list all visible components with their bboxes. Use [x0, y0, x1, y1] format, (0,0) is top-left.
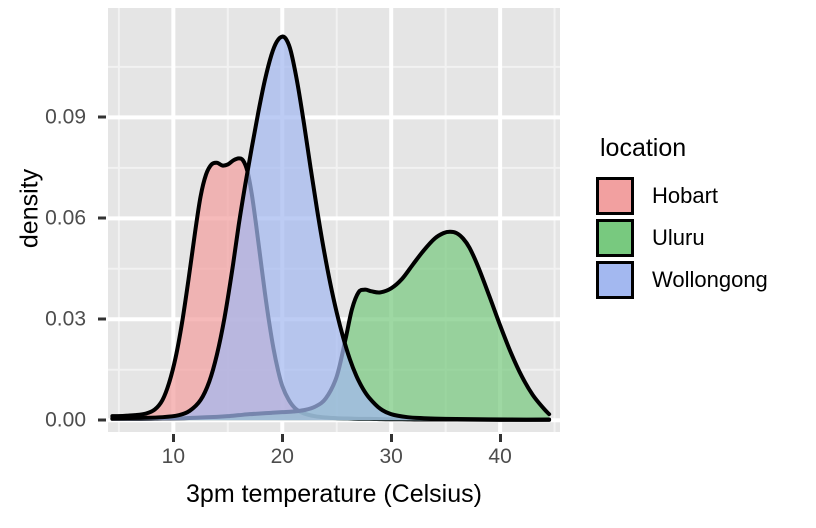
x-axis-title: 3pm temperature (Celsius) [108, 482, 560, 507]
legend-title: location [600, 136, 768, 161]
legend: location HobartUluruWollongong [596, 136, 768, 301]
legend-items: HobartUluruWollongong [596, 175, 768, 301]
x-tick-label: 10 [143, 446, 203, 467]
density-plot: 0.000.030.060.09 density 10203040 3pm te… [0, 0, 816, 528]
x-tick-mark [281, 434, 284, 442]
y-tick-label: 0.00 [0, 410, 86, 431]
x-tick-mark [390, 434, 393, 442]
x-tick-label: 30 [361, 446, 421, 467]
legend-item-label: Uluru [652, 227, 705, 249]
y-tick-mark [98, 419, 106, 422]
legend-swatch-icon [596, 219, 634, 257]
plot-panel [108, 8, 560, 432]
x-tick-mark [499, 434, 502, 442]
y-tick-label: 0.03 [0, 309, 86, 330]
legend-item-wollongong[interactable]: Wollongong [596, 259, 768, 301]
legend-item-label: Hobart [652, 185, 718, 207]
plot-canvas [108, 8, 560, 432]
legend-swatch-icon [596, 261, 634, 299]
x-tick-mark [172, 434, 175, 442]
y-tick-mark [98, 116, 106, 119]
y-axis-title: density [18, 109, 43, 309]
legend-swatch-icon [596, 177, 634, 215]
legend-item-hobart[interactable]: Hobart [596, 175, 768, 217]
y-tick-label: 0.09 [0, 107, 86, 128]
y-tick-mark [98, 217, 106, 220]
y-tick-mark [98, 318, 106, 321]
legend-item-label: Wollongong [652, 269, 768, 291]
x-tick-label: 20 [252, 446, 312, 467]
density-series-layer [112, 37, 549, 421]
x-tick-label: 40 [470, 446, 530, 467]
legend-item-uluru[interactable]: Uluru [596, 217, 768, 259]
